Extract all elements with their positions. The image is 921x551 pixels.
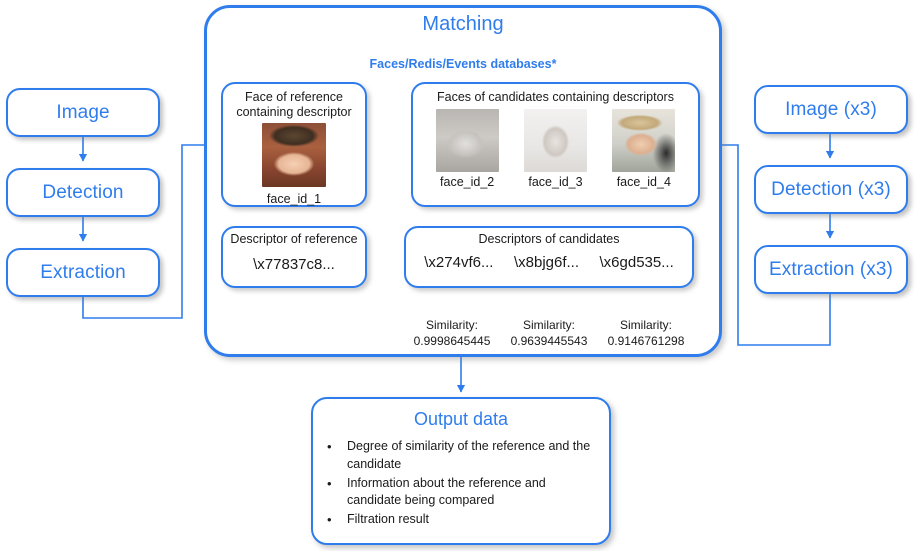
reference-face-id: face_id_1	[223, 192, 365, 206]
similarity-label-3: Similarity:	[598, 318, 694, 334]
matching-title: Matching	[204, 13, 722, 36]
candidate-descriptors-card: Descriptors of candidates \x274vf6... \x…	[404, 226, 694, 288]
output-data-item: Degree of similarity of the reference an…	[347, 438, 595, 474]
reference-face-card-title-line1: Face of reference	[245, 90, 343, 104]
pipeline-step-image-x3[interactable]: Image (x3)	[754, 85, 908, 134]
candidate-face-thumbnail-3	[524, 109, 587, 172]
candidate-descriptor-value-2: \x8bjg6f...	[514, 254, 579, 271]
reference-face-card-title: Face of reference containing descriptor	[223, 84, 365, 121]
pipeline-step-image-x3-label: Image (x3)	[785, 99, 877, 121]
candidate-descriptor-value-3: \x6gd535...	[600, 254, 674, 271]
output-data-title: Output data	[313, 409, 609, 430]
pipeline-step-detection[interactable]: Detection	[6, 168, 160, 217]
candidate-face-cell: face_id_2	[436, 109, 499, 189]
candidate-face-thumbnail-4	[612, 109, 675, 172]
reference-face-card-title-line2: containing descriptor	[236, 105, 351, 119]
similarity-value-3: 0.9146761298	[598, 334, 694, 350]
similarity-value-2: 0.9639445543	[501, 334, 597, 350]
similarity-label-1: Similarity:	[404, 318, 500, 334]
candidate-descriptors-title: Descriptors of candidates	[406, 228, 692, 247]
reference-descriptor-value: \x77837c8...	[223, 247, 365, 273]
output-data-item: Filtration result	[347, 511, 595, 529]
candidate-face-cell: face_id_3	[524, 109, 587, 189]
diagram-canvas: Matching Faces/Redis/Events databases* I…	[0, 0, 921, 551]
reference-descriptor-title: Descriptor of reference	[223, 228, 365, 247]
pipeline-step-detection-label: Detection	[42, 182, 123, 204]
reference-face-thumbnail	[262, 123, 326, 187]
output-data-list: Degree of similarity of the reference an…	[313, 438, 609, 529]
pipeline-step-extraction-label: Extraction	[40, 262, 125, 284]
candidate-face-id-3: face_id_3	[524, 175, 587, 189]
reference-face-cell	[262, 123, 326, 187]
reference-descriptor-card: Descriptor of reference \x77837c8...	[221, 226, 367, 288]
candidate-face-thumbnail-2	[436, 109, 499, 172]
similarity-list: Similarity: 0.9998645445 Similarity: 0.9…	[404, 318, 694, 349]
pipeline-step-extraction[interactable]: Extraction	[6, 248, 160, 297]
candidate-descriptor-value-1: \x274vf6...	[424, 254, 493, 271]
similarity-item-2: Similarity: 0.9639445543	[501, 318, 597, 349]
candidates-face-card-title: Faces of candidates containing descripto…	[413, 84, 698, 105]
candidate-face-cell: face_id_4	[612, 109, 675, 189]
candidates-face-card: Faces of candidates containing descripto…	[411, 82, 700, 207]
similarity-value-1: 0.9998645445	[404, 334, 500, 350]
candidate-face-id-2: face_id_2	[436, 175, 499, 189]
pipeline-step-extraction-x3-label: Extraction (x3)	[769, 259, 893, 281]
output-data-item: Information about the reference and cand…	[347, 475, 595, 511]
pipeline-step-image[interactable]: Image	[6, 88, 160, 137]
similarity-label-2: Similarity:	[501, 318, 597, 334]
similarity-item-1: Similarity: 0.9998645445	[404, 318, 500, 349]
reference-face-card: Face of reference containing descriptor …	[221, 82, 367, 207]
pipeline-step-image-label: Image	[56, 102, 109, 124]
pipeline-step-detection-x3[interactable]: Detection (x3)	[754, 165, 908, 214]
pipeline-step-detection-x3-label: Detection (x3)	[771, 179, 891, 201]
output-data-box: Output data Degree of similarity of the …	[311, 397, 611, 545]
pipeline-step-extraction-x3[interactable]: Extraction (x3)	[754, 245, 908, 294]
candidate-face-id-4: face_id_4	[612, 175, 675, 189]
databases-label: Faces/Redis/Events databases*	[204, 57, 722, 71]
similarity-item-3: Similarity: 0.9146761298	[598, 318, 694, 349]
